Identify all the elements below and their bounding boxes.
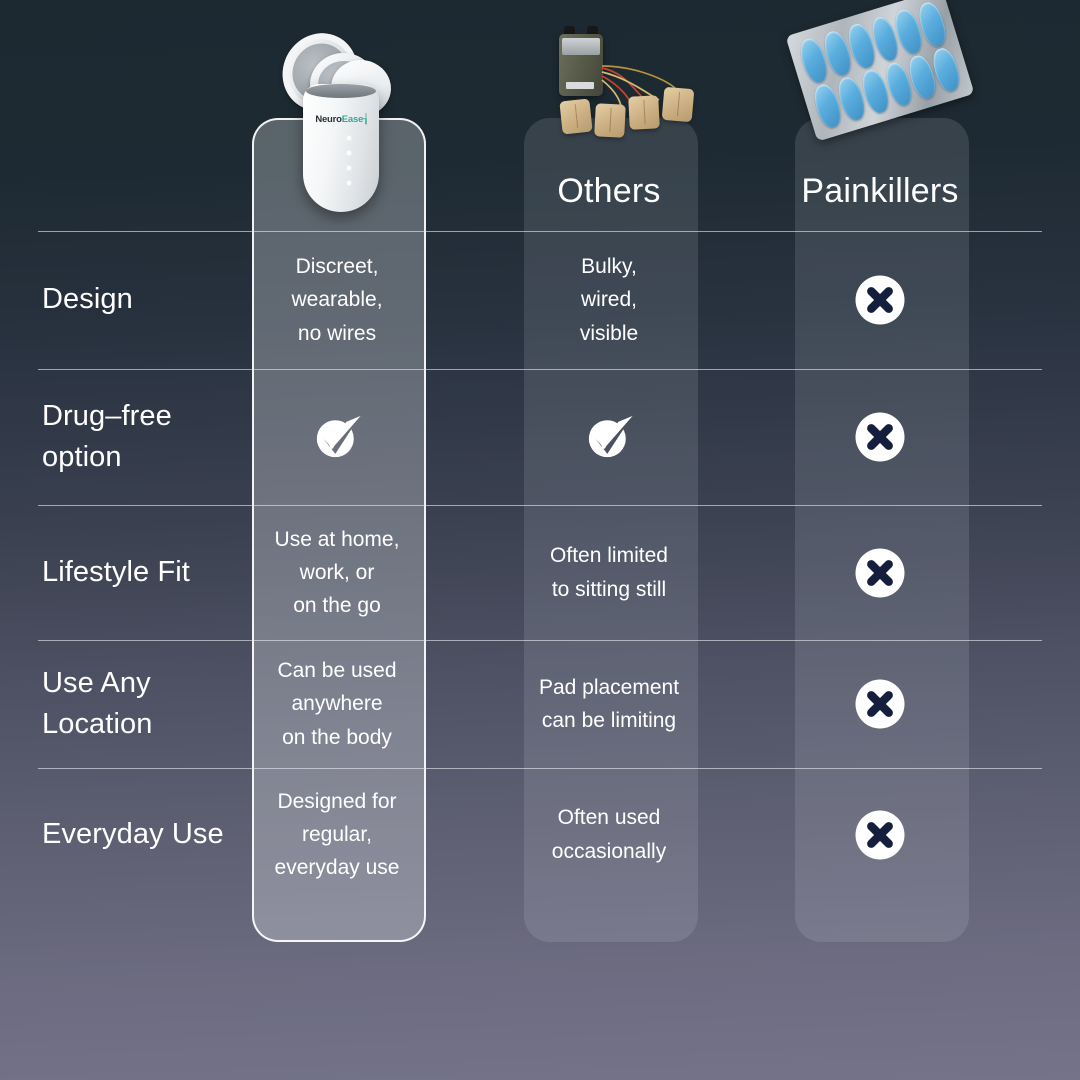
table-row: Lifestyle FitUse at home,work, oron the … [0,505,1080,640]
table-row: Drug–free option [0,369,1080,505]
x-mark-icon [780,409,980,465]
cell-line: to sitting still [509,573,709,606]
table-row: Use Any LocationCan be usedanywhereon th… [0,640,1080,768]
cell-neuroease [237,410,437,464]
cell-line: Bulky, [509,250,709,283]
cell-line: Can be used [237,654,437,687]
cell-line: no wires [237,317,437,350]
cell-line: visible [509,317,709,350]
x-mark-icon [780,272,980,328]
cell-others: Pad placementcan be limiting [509,671,709,737]
cell-line: anywhere [237,687,437,720]
cell-line: Designed for [237,785,437,818]
cell-line: everyday use [237,851,437,884]
row-label: Drug–free option [0,396,237,478]
cell-line: wearable, [237,283,437,316]
cell-painkillers [780,676,980,732]
cell-neuroease: Use at home,work, oron the go [237,523,437,623]
row-label: Everyday Use [0,814,237,855]
cell-neuroease: Discreet,wearable,no wires [237,250,437,350]
cell-others: Often usedoccasionally [509,801,709,867]
cell-line: work, or [237,556,437,589]
cell-line: wired, [509,283,709,316]
cell-line: on the body [237,721,437,754]
cell-line: Often used [509,801,709,834]
cell-line: Use at home, [237,523,437,556]
cell-line: regular, [237,818,437,851]
cell-line: can be limiting [509,704,709,737]
check-mark-icon [237,410,437,464]
cell-painkillers [780,409,980,465]
x-mark-icon [780,545,980,601]
cell-others: Often limitedto sitting still [509,539,709,605]
table-row: DesignDiscreet,wearable,no wiresBulky,wi… [0,231,1080,369]
cell-line: on the go [237,589,437,622]
row-label: Use Any Location [0,663,237,745]
row-label: Design [0,279,237,320]
check-mark-icon [509,410,709,464]
cell-neuroease: Can be usedanywhereon the body [237,654,437,754]
x-mark-icon [780,676,980,732]
row-label: Lifestyle Fit [0,552,237,593]
cell-painkillers [780,272,980,328]
comparison-table-graphic: NeuroEase┧ [0,0,1080,1080]
x-mark-icon [780,807,980,863]
cell-neuroease: Designed forregular,everyday use [237,785,437,885]
table-row: Everyday UseDesigned forregular,everyday… [0,768,1080,901]
cell-painkillers [780,807,980,863]
cell-line: Discreet, [237,250,437,283]
cell-line: Pad placement [509,671,709,704]
comparison-table-body: DesignDiscreet,wearable,no wiresBulky,wi… [0,0,1080,1080]
cell-line: Often limited [509,539,709,572]
cell-line: occasionally [509,835,709,868]
cell-others [509,410,709,464]
cell-others: Bulky,wired,visible [509,250,709,350]
cell-painkillers [780,545,980,601]
